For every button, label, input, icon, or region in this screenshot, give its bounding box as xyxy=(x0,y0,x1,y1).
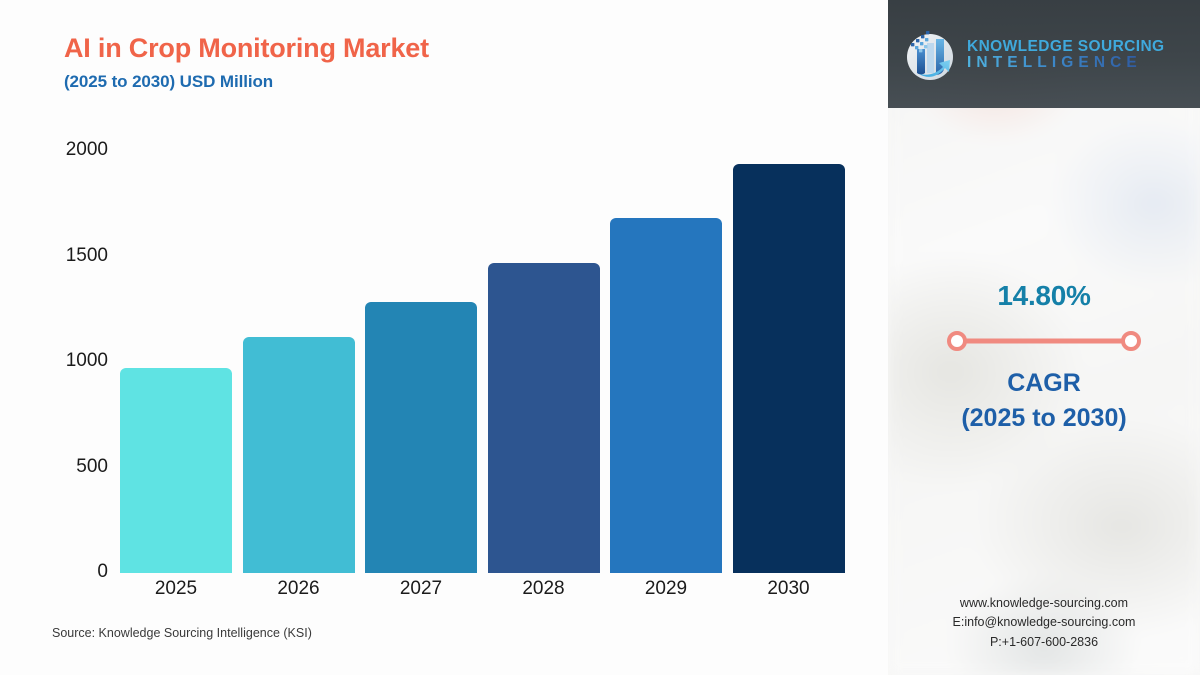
ksi-circle-bars-arrow-logo-icon xyxy=(902,27,958,83)
cagr-label: CAGR xyxy=(888,366,1200,402)
x-axis-tick-label: 2026 xyxy=(243,578,355,600)
chart-panel: AI in Crop Monitoring Market (2025 to 20… xyxy=(0,0,888,675)
contact-block: www.knowledge-sourcing.com E:info@knowle… xyxy=(888,594,1200,652)
bar-2027[interactable] xyxy=(365,302,477,573)
cagr-period: (2025 to 2030) xyxy=(888,404,1200,433)
infographic-page: AI in Crop Monitoring Market (2025 to 20… xyxy=(0,0,1200,675)
contact-phone: P:+1-607-600-2836 xyxy=(888,633,1200,652)
contact-website[interactable]: www.knowledge-sourcing.com xyxy=(888,594,1200,613)
brand-logo-line2: INTELLIGENCE xyxy=(967,55,1165,71)
x-axis-tick-label: 2027 xyxy=(365,578,477,600)
brand-logo[interactable]: KNOWLEDGE SOURCING INTELLIGENCE xyxy=(902,24,1190,86)
x-axis-tick-label: 2030 xyxy=(733,578,845,600)
cagr-value: 14.80% xyxy=(888,280,1200,312)
bar-2025[interactable] xyxy=(120,368,232,573)
bar-2026[interactable] xyxy=(243,337,355,573)
contact-email[interactable]: E:info@knowledge-sourcing.com xyxy=(888,613,1200,632)
x-axis-tick-label: 2029 xyxy=(610,578,722,600)
bar-2029[interactable] xyxy=(610,218,722,573)
x-axis-tick-label: 2028 xyxy=(488,578,600,600)
branding-panel: KNOWLEDGE SOURCING INTELLIGENCE 14.80% C… xyxy=(888,0,1200,675)
cagr-connector-icon xyxy=(888,331,1200,351)
x-axis-tick-label: 2025 xyxy=(120,578,232,600)
bar-2028[interactable] xyxy=(488,263,600,573)
brand-logo-line1: KNOWLEDGE SOURCING xyxy=(967,39,1165,55)
bar-2030[interactable] xyxy=(733,164,845,573)
bar-chart-plot-area: 0500100015002000202520262027202820292030 xyxy=(0,0,888,675)
source-note: Source: Knowledge Sourcing Intelligence … xyxy=(52,626,312,640)
brand-logo-text: KNOWLEDGE SOURCING INTELLIGENCE xyxy=(967,39,1165,71)
